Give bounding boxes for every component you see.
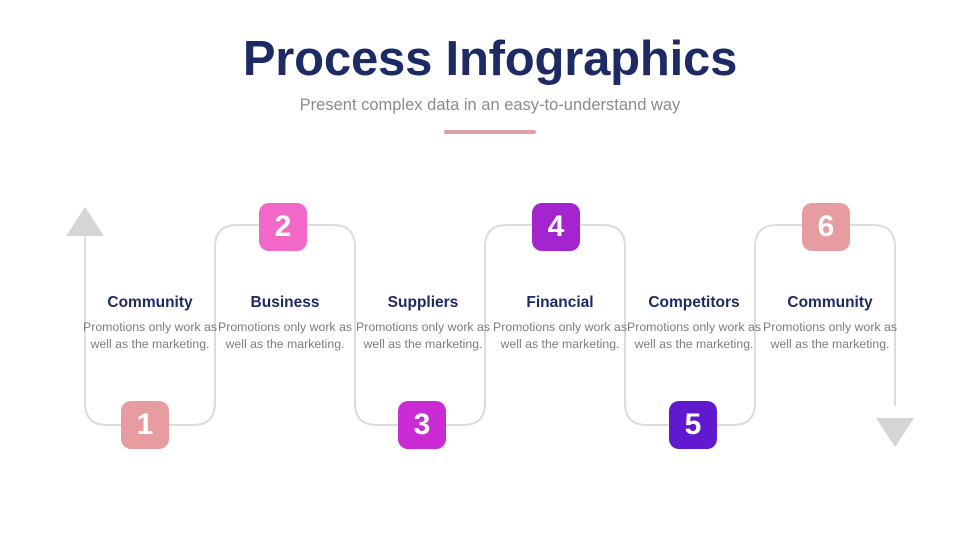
step-5-number: 5 <box>685 410 702 440</box>
arrow-down-icon <box>876 418 914 447</box>
step-6[interactable]: Community Promotions only work as well a… <box>760 294 900 354</box>
step-6-number-badge[interactable]: 6 <box>802 203 850 251</box>
step-3-description: Promotions only work as well as the mark… <box>353 319 493 354</box>
step-2-number: 2 <box>275 212 292 242</box>
step-5[interactable]: Competitors Promotions only work as well… <box>624 294 764 354</box>
step-4[interactable]: Financial Promotions only work as well a… <box>490 294 630 354</box>
step-4-description: Promotions only work as well as the mark… <box>490 319 630 354</box>
step-6-description: Promotions only work as well as the mark… <box>760 319 900 354</box>
step-6-number: 6 <box>818 212 835 242</box>
step-5-description: Promotions only work as well as the mark… <box>624 319 764 354</box>
step-1-number-badge[interactable]: 1 <box>121 401 169 449</box>
step-5-title: Competitors <box>624 294 764 313</box>
title-underline-accent <box>444 130 536 134</box>
step-4-number: 4 <box>548 212 565 242</box>
step-3-number: 3 <box>414 410 431 440</box>
step-4-number-badge[interactable]: 4 <box>532 203 580 251</box>
step-2[interactable]: Business Promotions only work as well as… <box>215 294 355 354</box>
step-3-number-badge[interactable]: 3 <box>398 401 446 449</box>
step-1-number: 1 <box>137 410 154 440</box>
step-6-title: Community <box>760 294 900 313</box>
step-2-number-badge[interactable]: 2 <box>259 203 307 251</box>
header: Process Infographics Present complex dat… <box>0 34 980 134</box>
step-5-number-badge[interactable]: 5 <box>669 401 717 449</box>
arrow-up-icon <box>66 207 104 236</box>
page-subtitle: Present complex data in an easy-to-under… <box>0 96 980 116</box>
step-1-description: Promotions only work as well as the mark… <box>80 319 220 354</box>
step-1[interactable]: Community Promotions only work as well a… <box>80 294 220 354</box>
slide-canvas: Process Infographics Present complex dat… <box>0 0 980 551</box>
step-3-title: Suppliers <box>353 294 493 313</box>
step-2-description: Promotions only work as well as the mark… <box>215 319 355 354</box>
step-3[interactable]: Suppliers Promotions only work as well a… <box>353 294 493 354</box>
step-2-title: Business <box>215 294 355 313</box>
page-title: Process Infographics <box>0 34 980 85</box>
step-4-title: Financial <box>490 294 630 313</box>
step-1-title: Community <box>80 294 220 313</box>
